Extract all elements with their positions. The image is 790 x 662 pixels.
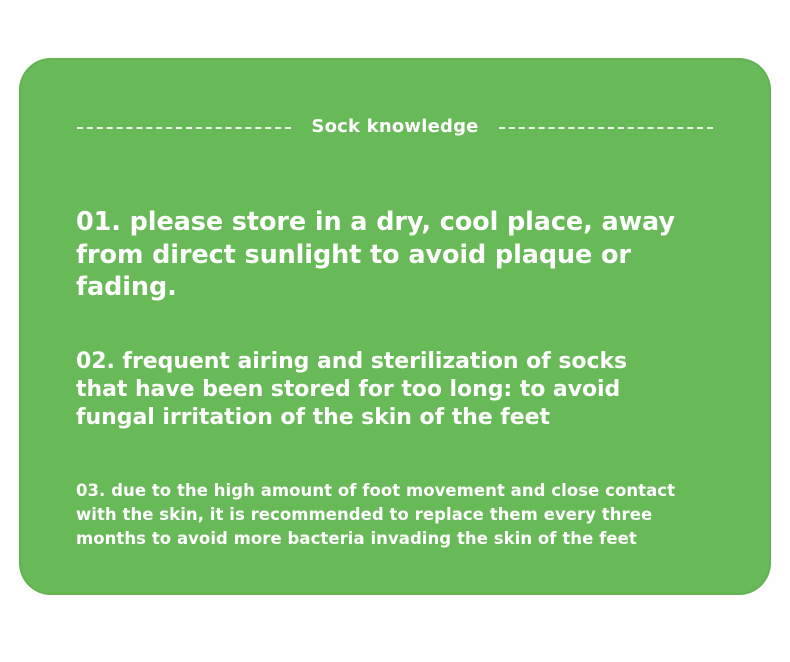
header-divider-left bbox=[77, 127, 291, 129]
infographic-root: Sock knowledge 01. please store in a dry… bbox=[0, 0, 790, 662]
tip-item-02: 02. frequent airing and sterilization of… bbox=[76, 348, 656, 432]
card-body: 01. please store in a dry, cool place, a… bbox=[76, 206, 731, 551]
tip-item-01: 01. please store in a dry, cool place, a… bbox=[76, 206, 704, 304]
header-divider-right bbox=[499, 127, 713, 129]
card-title: Sock knowledge bbox=[311, 118, 478, 136]
card-header: Sock knowledge bbox=[19, 114, 771, 140]
sock-knowledge-card: Sock knowledge 01. please store in a dry… bbox=[19, 58, 771, 595]
tip-item-03: 03. due to the high amount of foot movem… bbox=[76, 479, 706, 551]
